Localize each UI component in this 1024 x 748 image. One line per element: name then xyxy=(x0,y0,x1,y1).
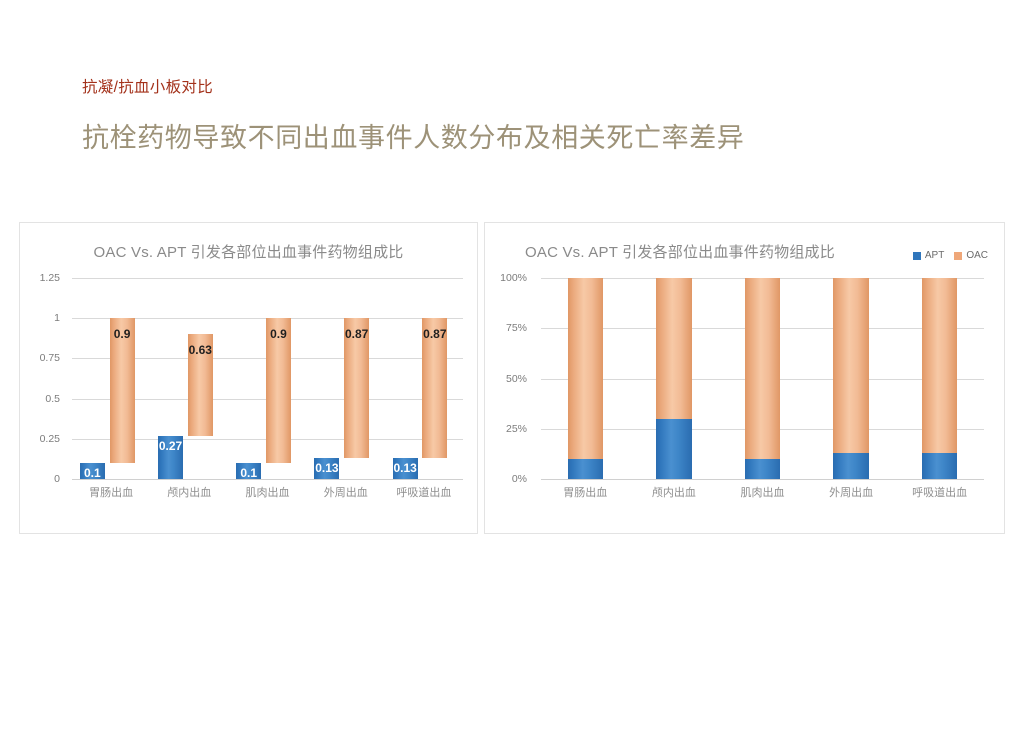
bar-apt[interactable] xyxy=(568,459,603,479)
right-chart-panel: OAC Vs. APT 引发各部位出血事件药物组成比 APTOAC 100%75… xyxy=(484,222,1005,534)
bar-oac[interactable] xyxy=(656,278,691,419)
bar-group: 0.270.63 xyxy=(150,278,228,479)
x-axis-category-label: 胃肠出血 xyxy=(72,484,150,500)
y-axis-tick-label: 0.5 xyxy=(45,393,60,405)
x-axis-category-label: 颅内出血 xyxy=(630,484,719,500)
bar-value-label: 0.87 xyxy=(422,327,447,341)
bar-group: 0.10.9 xyxy=(228,278,306,479)
left-chart-y-axis: 1.2510.750.50.250 xyxy=(20,278,66,479)
bar-value-label: 0.1 xyxy=(80,466,105,480)
bar-group: 0.130.87 xyxy=(307,278,385,479)
bar-apt[interactable]: 0.1 xyxy=(236,463,261,479)
bar-apt[interactable] xyxy=(833,453,868,479)
bar-group: 0.130.87 xyxy=(385,278,463,479)
slide-eyebrow-text: 抗凝/抗血小板对比 xyxy=(82,78,942,98)
bar-apt[interactable] xyxy=(745,459,780,479)
x-axis-category-label: 外周出血 xyxy=(807,484,896,500)
right-chart-y-axis: 100%75%50%25%0% xyxy=(485,278,533,479)
x-axis-category-label: 颅内出血 xyxy=(150,484,228,500)
bar-oac[interactable]: 0.87 xyxy=(344,318,369,458)
x-axis-category-label: 肌肉出血 xyxy=(228,484,306,500)
bar-value-label: 0.13 xyxy=(314,461,339,475)
right-chart-x-axis: 胃肠出血颅内出血肌肉出血外周出血呼吸道出血 xyxy=(541,479,984,505)
right-chart-bars xyxy=(541,278,984,479)
bar-group xyxy=(630,278,719,479)
bar-value-label: 0.9 xyxy=(266,327,291,341)
legend-swatch-icon xyxy=(954,252,962,260)
bar-apt[interactable]: 0.13 xyxy=(393,458,418,479)
right-chart-legend: APTOAC xyxy=(913,250,988,261)
bar-value-label: 0.13 xyxy=(393,461,418,475)
bar-group xyxy=(895,278,984,479)
bar-value-label: 0.87 xyxy=(344,327,369,341)
bar-group xyxy=(718,278,807,479)
bar-oac[interactable]: 0.87 xyxy=(422,318,447,458)
y-axis-tick-label: 1 xyxy=(54,312,60,324)
y-axis-tick-label: 0.75 xyxy=(40,352,60,364)
slide-title: 抗栓药物导致不同出血事件人数分布及相关死亡率差异 xyxy=(82,120,942,156)
x-axis-category-label: 胃肠出血 xyxy=(541,484,630,500)
bar-apt[interactable] xyxy=(656,419,691,479)
bar-group: 0.10.9 xyxy=(72,278,150,479)
y-axis-tick-label: 1.25 xyxy=(40,272,60,284)
left-chart-title: OAC Vs. APT 引发各部位出血事件药物组成比 xyxy=(20,241,477,262)
bar-value-label: 0.1 xyxy=(236,466,261,480)
bar-group xyxy=(807,278,896,479)
left-chart-x-axis: 胃肠出血颅内出血肌肉出血外周出血呼吸道出血 xyxy=(72,479,463,505)
bar-value-label: 0.63 xyxy=(188,343,213,357)
slide-header: 抗凝/抗血小板对比 抗栓药物导致不同出血事件人数分布及相关死亡率差异 xyxy=(82,78,942,156)
bar-oac[interactable] xyxy=(745,278,780,459)
bar-oac[interactable] xyxy=(833,278,868,453)
legend-swatch-icon xyxy=(913,252,921,260)
bar-oac[interactable]: 0.9 xyxy=(266,318,291,463)
left-chart-panel: OAC Vs. APT 引发各部位出血事件药物组成比 1.2510.750.50… xyxy=(19,222,478,534)
bar-oac[interactable]: 0.9 xyxy=(110,318,135,463)
legend-label: OAC xyxy=(966,250,988,261)
x-axis-category-label: 外周出血 xyxy=(307,484,385,500)
right-chart-plot: 100%75%50%25%0% 胃肠出血颅内出血肌肉出血外周出血呼吸道出血 xyxy=(485,278,1004,505)
left-chart-bars: 0.10.90.270.630.10.90.130.870.130.87 xyxy=(72,278,463,479)
legend-item[interactable]: OAC xyxy=(954,250,988,261)
bar-apt[interactable]: 0.13 xyxy=(314,458,339,479)
legend-label: APT xyxy=(925,250,944,261)
right-chart-title: OAC Vs. APT 引发各部位出血事件药物组成比 xyxy=(525,241,835,262)
x-axis-category-label: 呼吸道出血 xyxy=(385,484,463,500)
x-axis-category-label: 呼吸道出血 xyxy=(895,484,984,500)
bar-oac[interactable] xyxy=(922,278,957,453)
y-axis-tick-label: 0 xyxy=(54,473,60,485)
x-axis-category-label: 肌肉出血 xyxy=(718,484,807,500)
legend-item[interactable]: APT xyxy=(913,250,944,261)
y-axis-tick-label: 0.25 xyxy=(40,433,60,445)
bar-apt[interactable]: 0.1 xyxy=(80,463,105,479)
bar-apt[interactable] xyxy=(922,453,957,479)
left-chart-plot-inner: 0.10.90.270.630.10.90.130.870.130.87 胃肠出… xyxy=(72,278,463,505)
y-axis-tick-label: 100% xyxy=(500,272,527,284)
bar-oac[interactable] xyxy=(568,278,603,459)
bar-group xyxy=(541,278,630,479)
y-axis-tick-label: 25% xyxy=(506,423,527,435)
right-chart-plot-inner: 胃肠出血颅内出血肌肉出血外周出血呼吸道出血 xyxy=(541,278,984,505)
y-axis-tick-label: 75% xyxy=(506,322,527,334)
bar-value-label: 0.27 xyxy=(158,439,183,453)
left-chart-plot: 1.2510.750.50.250 0.10.90.270.630.10.90.… xyxy=(20,278,477,505)
bar-oac[interactable]: 0.63 xyxy=(188,334,213,435)
y-axis-tick-label: 0% xyxy=(512,473,527,485)
bar-value-label: 0.9 xyxy=(110,327,135,341)
y-axis-tick-label: 50% xyxy=(506,373,527,385)
bar-apt[interactable]: 0.27 xyxy=(158,436,183,479)
